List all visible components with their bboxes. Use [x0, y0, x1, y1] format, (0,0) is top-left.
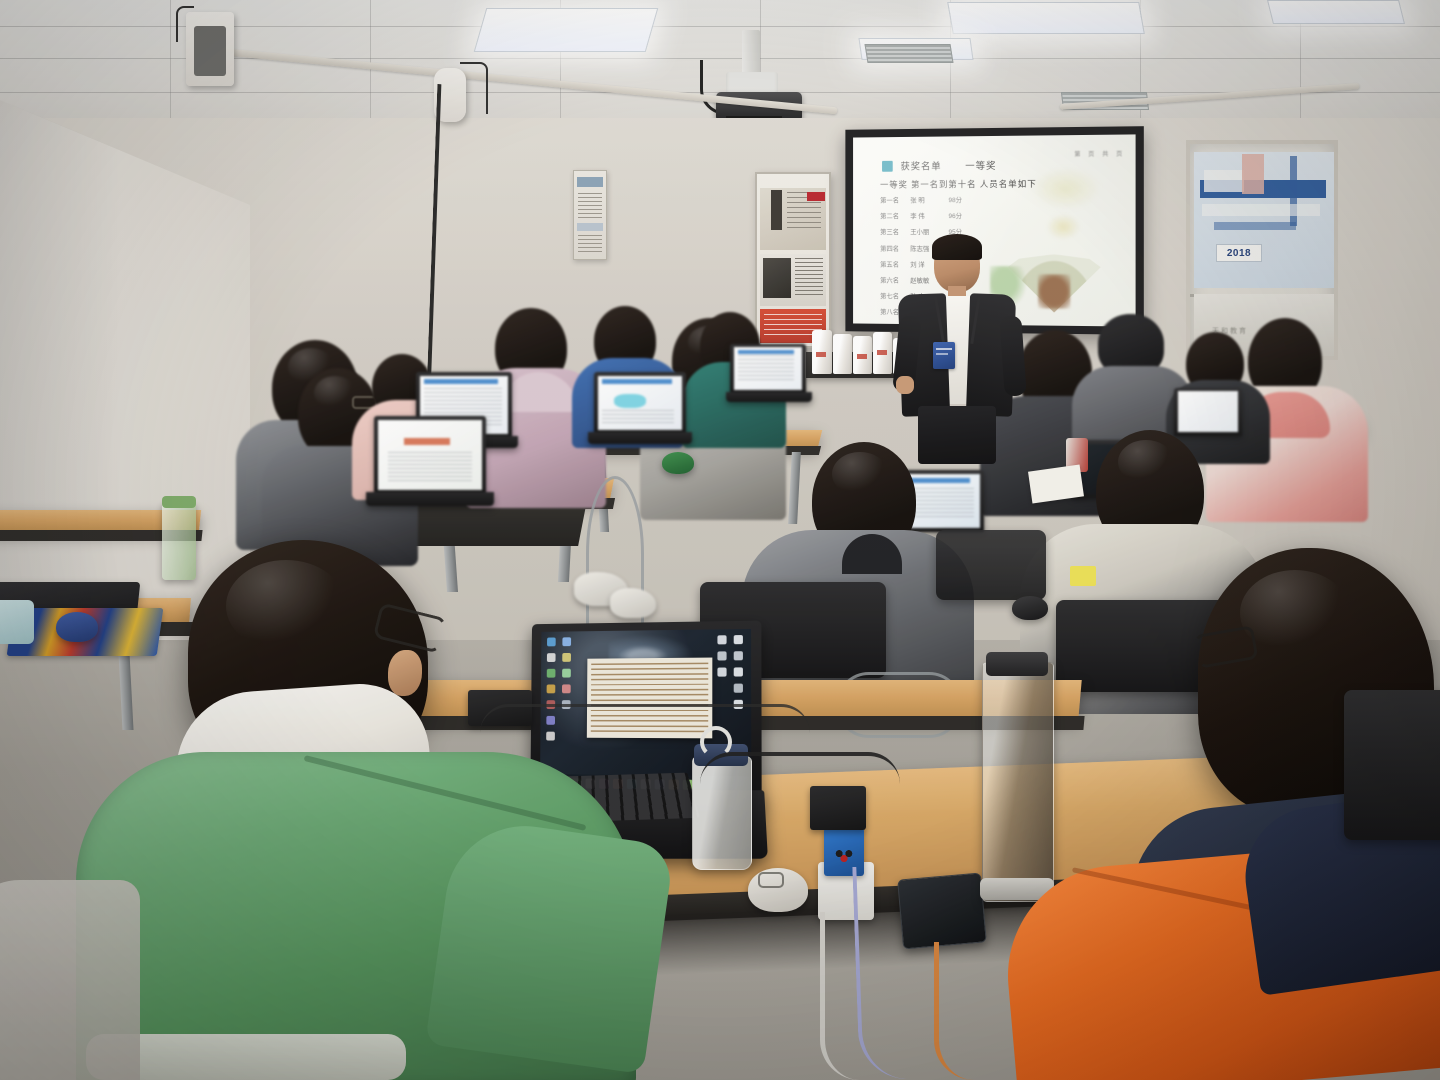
wall-speaker-cable: [176, 6, 194, 42]
projector-mount-pole: [742, 30, 760, 78]
instructor-trousers: [918, 406, 996, 464]
ceiling-light-panel: [947, 2, 1145, 34]
computer-mouse[interactable]: [662, 452, 694, 474]
thermos-bottle: [982, 662, 1054, 902]
wall-speaker-grill: [194, 26, 226, 76]
instructor-id-badge: [933, 342, 955, 369]
green-jacket-ear: [388, 650, 422, 696]
laptop-power-adapter: [810, 786, 866, 830]
tumbler-lid: [162, 496, 196, 508]
usb-cable: [852, 865, 909, 1080]
classroom-photo: 获奖名单 一等奖 一等奖 第一名到第十名 人员名单如下 第 页 共 页 第一名张…: [0, 0, 1440, 1080]
green-jacket-arm: [425, 816, 675, 1074]
cup: [0, 600, 34, 644]
drink-tumbler: [162, 502, 196, 580]
year-badge-2018: 2018: [1216, 244, 1262, 262]
desk-cable: [480, 704, 810, 733]
wall-poster-small: [573, 170, 607, 260]
desk-cable: [700, 752, 900, 784]
thermos-cap: [986, 652, 1048, 676]
instructor-hand: [896, 376, 914, 394]
ceiling-air-vent: [864, 44, 953, 63]
student-foreground-left-edge: [0, 880, 140, 1080]
window-interior-view: 2018: [1194, 152, 1334, 288]
computer-mouse[interactable]: [56, 612, 98, 642]
charging-cable: [934, 942, 979, 1080]
sticky-note: [1070, 566, 1096, 586]
charger-face-sticker: [832, 848, 856, 862]
shoe: [610, 588, 656, 618]
ceiling-light-panel: [1267, 0, 1405, 24]
mouse-detail: [758, 872, 784, 888]
instructor-hair: [932, 234, 982, 260]
ceiling-light-panel: [474, 8, 659, 52]
wall-poster-large: [755, 172, 831, 348]
thermos-flask: [833, 334, 852, 374]
computer-mouse[interactable]: [1012, 596, 1048, 620]
smartphone[interactable]: [897, 872, 987, 949]
office-chair-back: [1344, 690, 1440, 840]
office-chair-back: [936, 530, 1046, 600]
